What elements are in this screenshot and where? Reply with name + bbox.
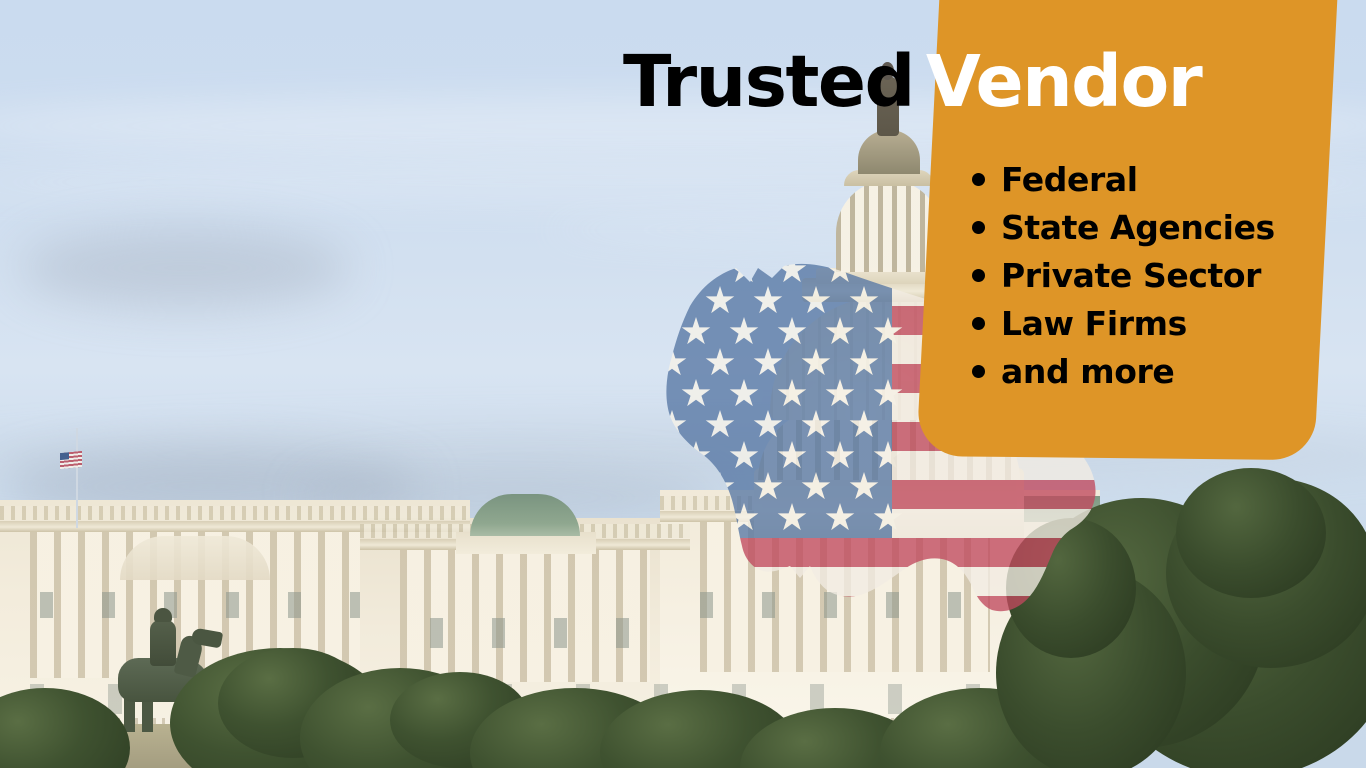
capitol-building (0, 438, 1100, 768)
list-item-label: Federal (1001, 160, 1138, 199)
list-item-label: and more (1001, 352, 1174, 391)
capitol-window-row (700, 592, 990, 618)
horse-leg (124, 698, 135, 732)
list-item: Federal (972, 155, 1275, 203)
page-title: TrustedVendor (623, 46, 1201, 117)
american-flag-icon (60, 451, 82, 469)
tree-cluster (1026, 448, 1366, 768)
bullet-dot-icon (972, 221, 985, 234)
list-item: and more (972, 347, 1275, 395)
bullet-dot-icon (972, 317, 985, 330)
promo-banner: TrustedVendor Federal State Agencies Pri… (0, 0, 1366, 768)
bullet-dot-icon (972, 173, 985, 186)
list-item-label: Law Firms (1001, 304, 1187, 343)
statue-rider (150, 620, 176, 666)
headline-word-vendor: Vendor (926, 40, 1201, 123)
horse-leg (142, 700, 153, 732)
capitol-roof-balustrade (0, 506, 470, 520)
headline-word-trusted: Trusted (623, 40, 914, 123)
tree (1006, 518, 1136, 658)
capitol-secondary-dome (470, 494, 580, 536)
bullet-dot-icon (972, 269, 985, 282)
list-item-label: Private Sector (1001, 256, 1261, 295)
cloud-puff (20, 228, 350, 308)
bullet-dot-icon (972, 365, 985, 378)
list-item: Law Firms (972, 299, 1275, 347)
list-item: State Agencies (972, 203, 1275, 251)
tree (1176, 468, 1326, 598)
list-item: Private Sector (972, 251, 1275, 299)
list-item-label: State Agencies (1001, 208, 1275, 247)
capitol-minor-dome (120, 536, 270, 580)
flagpole (76, 428, 78, 528)
capitol-colonnade (400, 548, 650, 682)
capitol-window-row (430, 618, 660, 648)
audience-list: Federal State Agencies Private Sector La… (972, 155, 1275, 395)
